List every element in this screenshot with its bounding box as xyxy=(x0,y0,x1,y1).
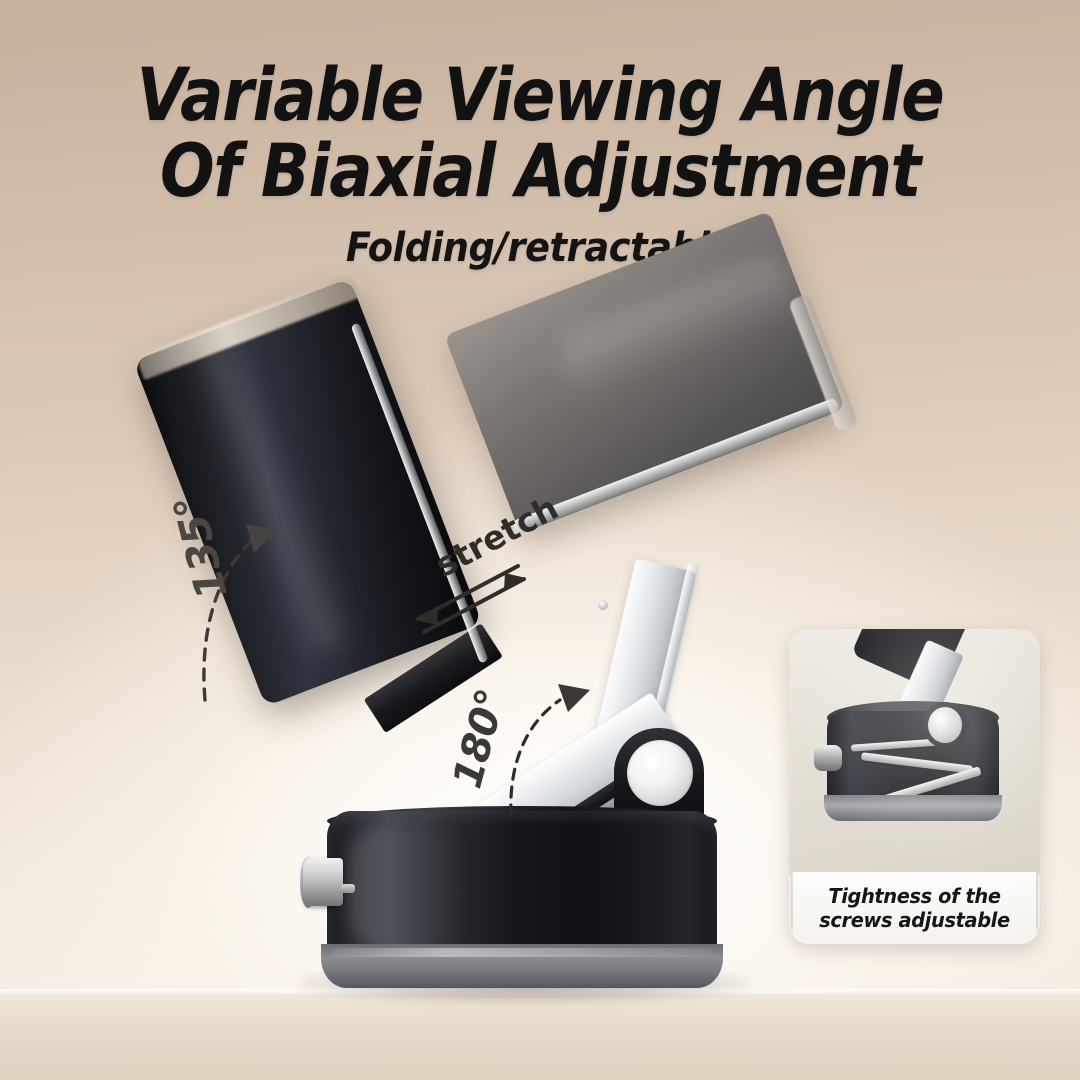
product-marketing-image: Variable Viewing Angle Of Biaxial Adjust… xyxy=(0,0,1080,1080)
inset-glow xyxy=(789,629,1040,875)
detail-inset-card[interactable]: Tightness of the screws adjustable xyxy=(789,629,1040,944)
base-knob-screw xyxy=(341,884,355,893)
detail-inset-photo xyxy=(789,629,1040,875)
base-knob xyxy=(303,858,343,906)
base-rim-highlight xyxy=(331,948,713,957)
upper-arm-screw xyxy=(597,599,609,611)
hinge-disc xyxy=(627,740,693,806)
detail-inset-caption: Tightness of the screws adjustable xyxy=(793,872,1036,944)
base-highlight xyxy=(350,822,470,954)
